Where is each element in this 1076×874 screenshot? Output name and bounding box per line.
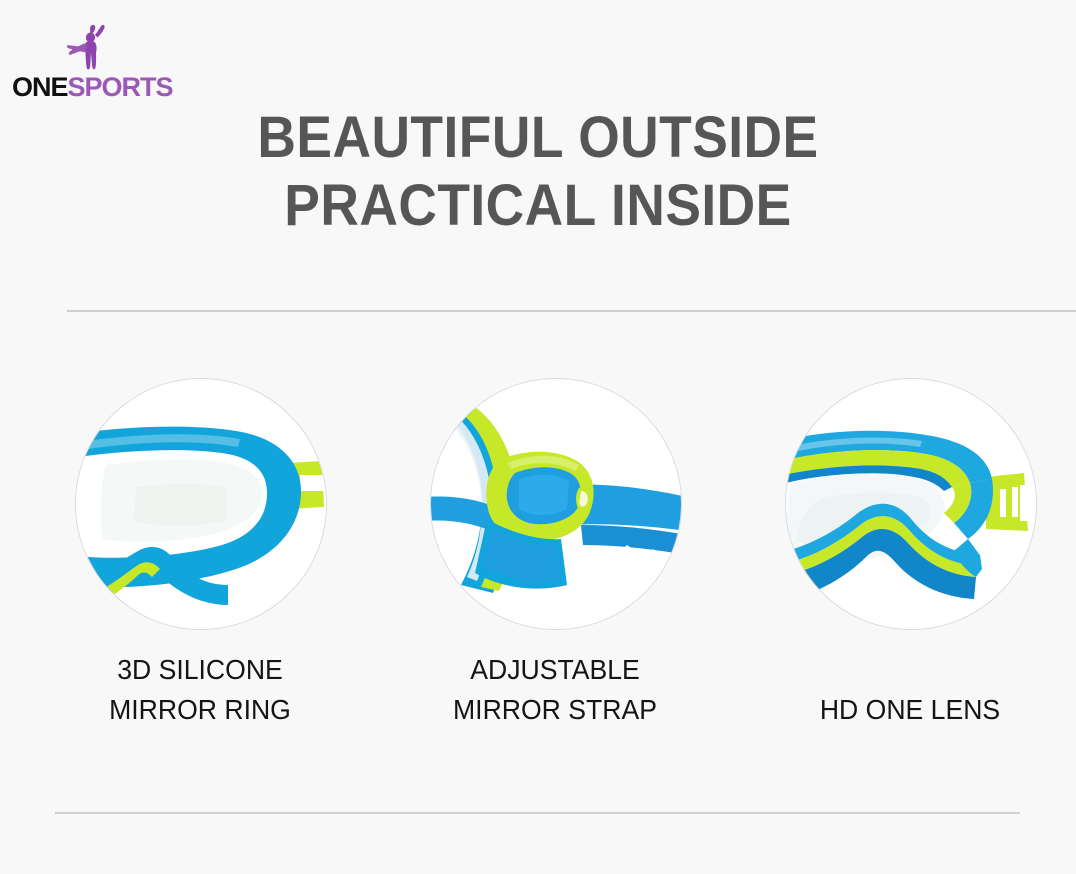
goggles-full-frame-image: [786, 379, 1036, 629]
feature-image-circle: [430, 378, 682, 630]
feature-caption-line-1: ADJUSTABLE: [398, 650, 712, 690]
product-feature-banner: ONESPORTS BEAUTIFUL OUTSIDE PRACTICAL IN…: [0, 0, 1076, 874]
feature-image-circle: [75, 378, 327, 630]
goggles-strap-buckle-closeup-image: [431, 379, 681, 629]
brand-logo: ONESPORTS: [12, 22, 172, 102]
feature-item-adjustable-mirror-strap: ADJUSTABLE MIRROR STRAP: [390, 360, 720, 780]
feature-item-hd-one-lens: HD ONE LENS: [745, 360, 1075, 780]
brand-name-sports: SPORTS: [68, 72, 173, 103]
feature-caption: ADJUSTABLE MIRROR STRAP: [398, 650, 712, 730]
feature-list: 3D SILICONE MIRROR RING: [0, 360, 1076, 780]
athlete-silhouette-icon: [60, 22, 116, 74]
page-title: BEAUTIFUL OUTSIDE PRACTICAL INSIDE: [0, 104, 1076, 240]
brand-name-one: ONE: [12, 72, 68, 103]
goggles-frame-closeup-image: [76, 379, 326, 629]
feature-caption-line-2: MIRROR STRAP: [398, 690, 712, 730]
feature-item-silicone-mirror-ring: 3D SILICONE MIRROR RING: [35, 360, 365, 780]
feature-caption-line-2: MIRROR RING: [43, 690, 357, 730]
feature-image-circle: [785, 378, 1037, 630]
feature-caption: 3D SILICONE MIRROR RING: [43, 650, 357, 730]
feature-caption: HD ONE LENS: [753, 690, 1067, 730]
headline-line-2: PRACTICAL INSIDE: [43, 172, 1033, 240]
brand-wordmark: ONESPORTS: [12, 72, 173, 103]
divider-bottom: [55, 812, 1020, 814]
feature-caption-line-1: 3D SILICONE: [43, 650, 357, 690]
headline-line-1: BEAUTIFUL OUTSIDE: [43, 104, 1033, 172]
feature-caption-line-1: HD ONE LENS: [753, 690, 1067, 730]
divider-top: [67, 310, 1076, 312]
